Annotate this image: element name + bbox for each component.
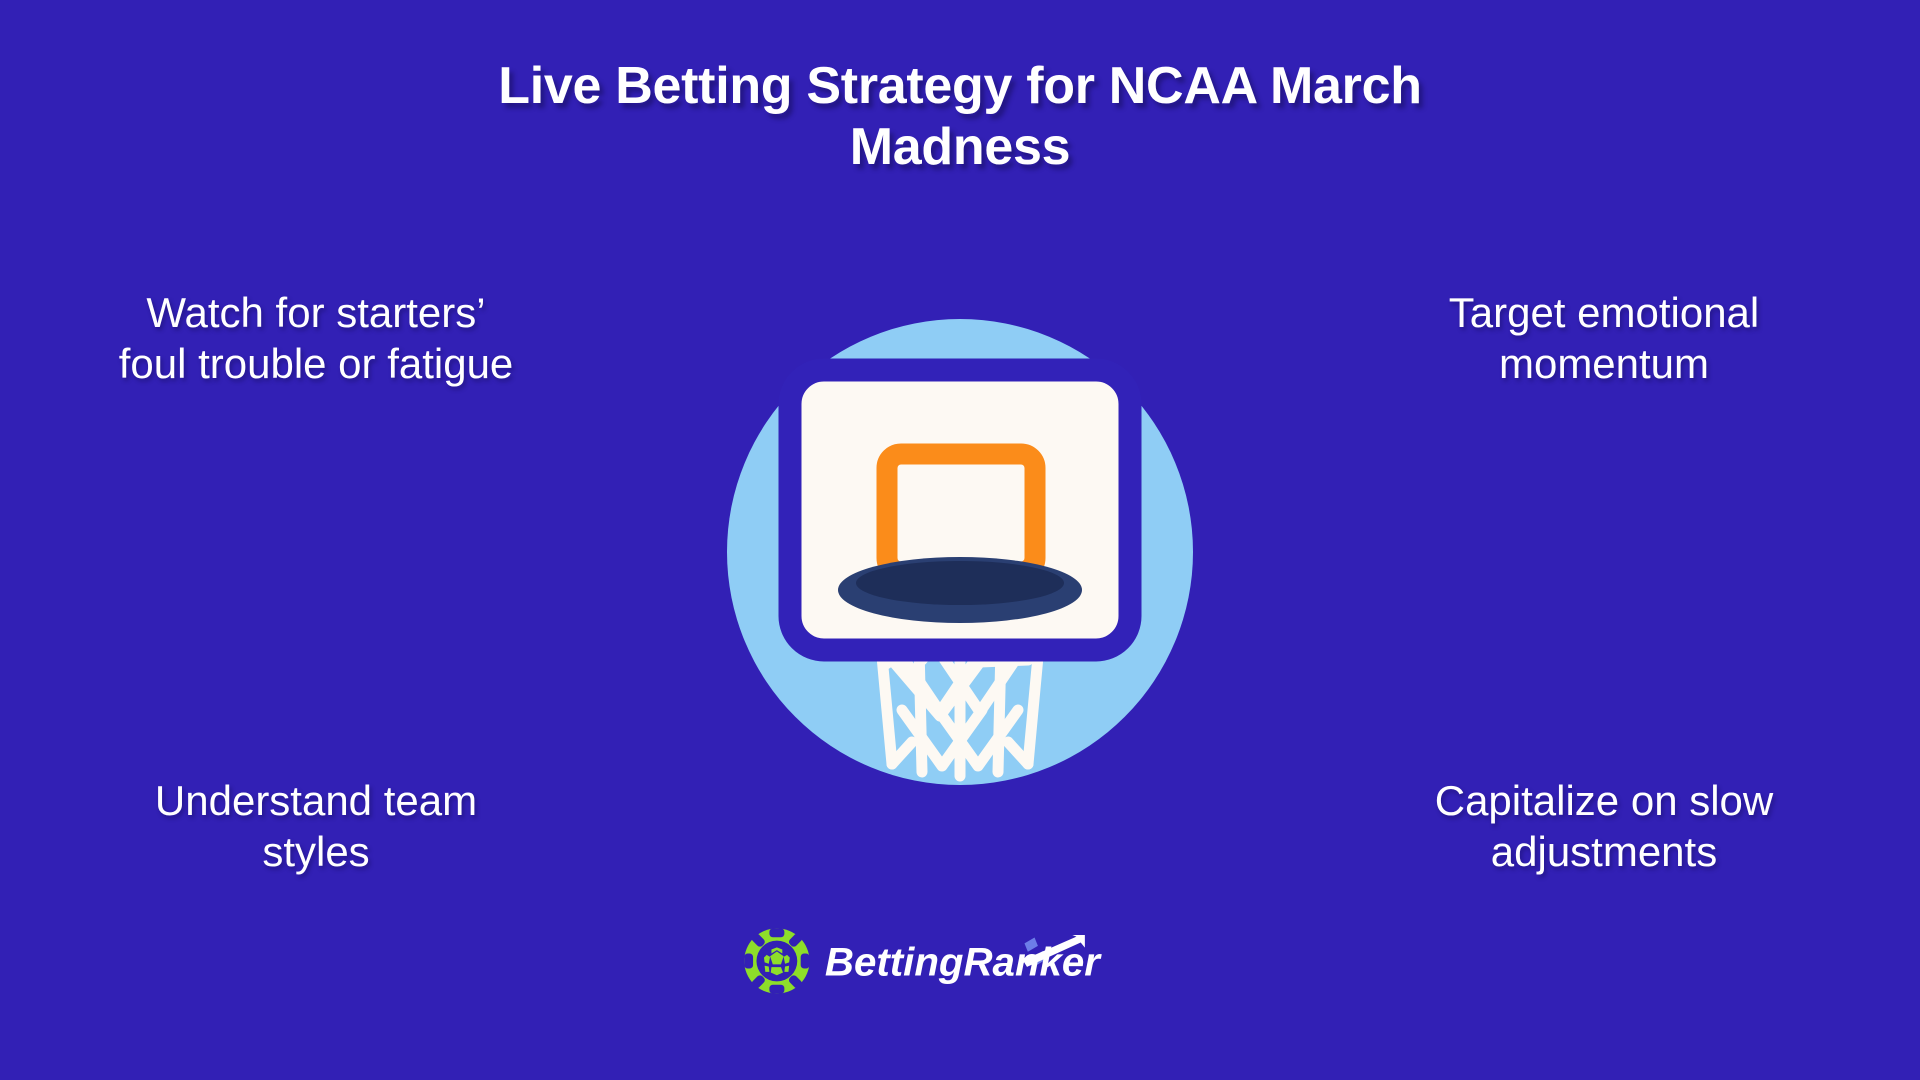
callout-top-right: Target emotional momentum	[1384, 287, 1824, 389]
page-title: Live Betting Strategy for NCAA March Mad…	[400, 56, 1520, 178]
brand-logo[interactable]: BettingRanker	[743, 927, 1177, 995]
callout-top-left: Watch for starters’ foul trouble or fati…	[96, 287, 536, 389]
brand-wordmark: BettingRanker	[825, 935, 1177, 987]
infographic-poster: Live Betting Strategy for NCAA March Mad…	[0, 0, 1920, 1080]
poker-chip-soccer-ball-icon	[743, 927, 811, 995]
basketball-hoop-illustration	[680, 272, 1240, 832]
brand-wordmark-text: BettingRanker	[825, 939, 1102, 984]
basketball-hoop-icon	[680, 272, 1240, 832]
callout-bottom-left: Understand team styles	[96, 775, 536, 877]
callout-bottom-right: Capitalize on slow adjustments	[1384, 775, 1824, 877]
